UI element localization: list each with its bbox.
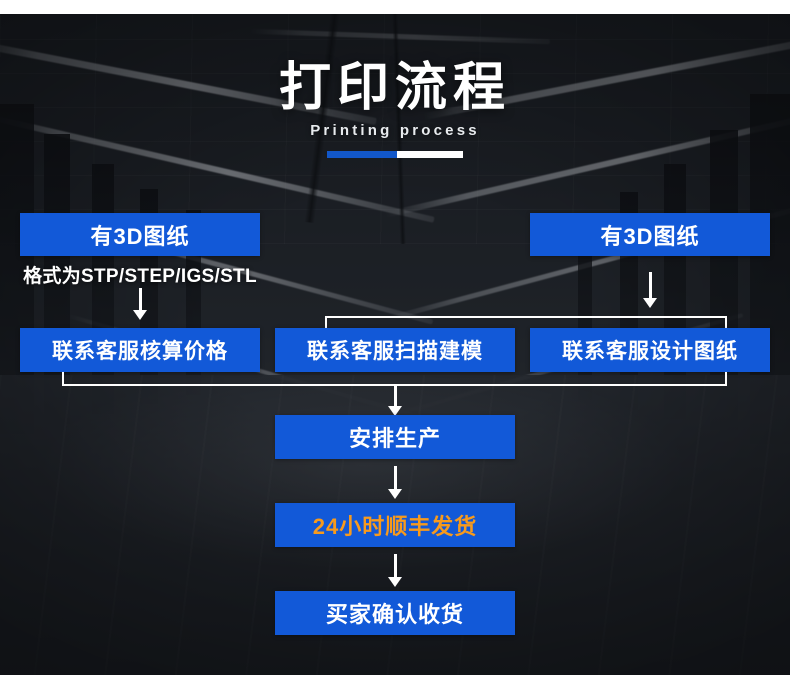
- box-has-3d-drawing-left[interactable]: 有3D图纸: [20, 213, 260, 256]
- box-arrange-production[interactable]: 安排生产: [275, 415, 515, 459]
- arrow-down-left: [133, 288, 147, 320]
- accent-bar-blue: [327, 151, 397, 158]
- page-title: 打印流程: [0, 62, 790, 114]
- accent-bar-white: [397, 151, 463, 158]
- box-has-3d-drawing-right[interactable]: 有3D图纸: [530, 213, 770, 256]
- connector-top-bracket: [325, 316, 727, 318]
- note-file-formats: 格式为STP/STEP/IGS/STL: [20, 261, 260, 288]
- box-contact-support-quote[interactable]: 联系客服核算价格: [20, 328, 260, 372]
- arrow-down-to-production: [388, 386, 402, 416]
- accent-bar: [327, 151, 463, 158]
- arrow-down-to-shipping: [388, 466, 402, 499]
- arrow-down-to-confirm: [388, 554, 402, 587]
- box-contact-support-design-drawing[interactable]: 联系客服设计图纸: [530, 328, 770, 372]
- arrow-down-right: [643, 272, 657, 308]
- page-subtitle: Printing process: [0, 122, 790, 139]
- printing-process-infographic: 打印流程 Printing process 有3D图纸 格式为STP/STEP/…: [0, 0, 790, 696]
- box-buyer-confirm-receipt[interactable]: 买家确认收货: [275, 591, 515, 635]
- box-contact-support-scan-model[interactable]: 联系客服扫描建模: [275, 328, 515, 372]
- connector-bottom-bracket-right-leg: [725, 372, 727, 386]
- box-24h-sf-shipping[interactable]: 24小时顺丰发货: [275, 503, 515, 547]
